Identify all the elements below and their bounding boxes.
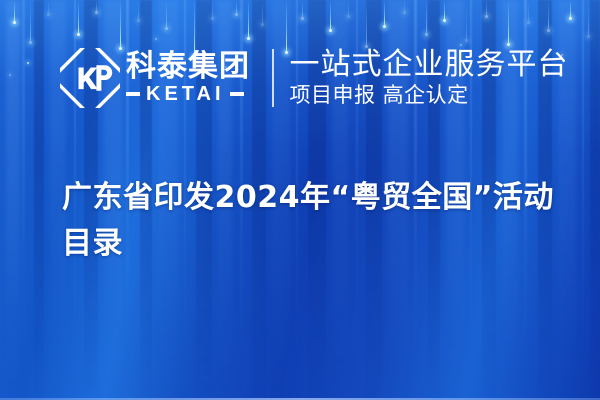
banner-header: 科泰集团 KETAI 一站式企业服务平台 项目申报 高企认定 — [0, 42, 600, 114]
brand-name-cn: 科泰集团 — [126, 52, 250, 83]
tagline-secondary: 项目申报 高企认定 — [290, 84, 569, 108]
ketai-diamond-kp-logo-icon — [60, 48, 120, 108]
page-title: 广东省印发2024年“粤贸全国”活动目录 — [62, 175, 562, 266]
brand-name-en-row: KETAI — [126, 84, 250, 104]
logo-dash-right-icon — [230, 92, 244, 96]
brand-logo[interactable]: 科泰集团 KETAI — [60, 48, 250, 108]
tagline-primary: 一站式企业服务平台 — [290, 49, 569, 81]
logo-dash-left-icon — [126, 92, 140, 96]
news-banner: 科泰集团 KETAI 一站式企业服务平台 项目申报 高企认定 广东省印发2024… — [0, 0, 600, 400]
brand-wordmark: 科泰集团 KETAI — [126, 52, 250, 105]
header-divider — [272, 49, 274, 107]
brand-tagline: 一站式企业服务平台 项目申报 高企认定 — [290, 49, 569, 108]
brand-name-en: KETAI — [146, 84, 225, 104]
